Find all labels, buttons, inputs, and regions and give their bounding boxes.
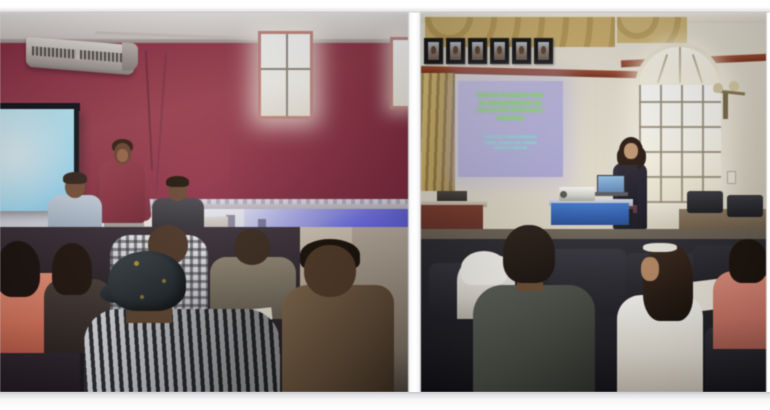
seated-man-dark-hair — [166, 176, 189, 187]
photo-left-classroom — [0, 13, 408, 392]
audience-woman-face — [641, 257, 659, 281]
photo-collage-stage: NUEVAS TECNICAS PARA EL ENCUBRIMIENTO DE… — [0, 0, 770, 410]
audience-tan-head — [234, 229, 270, 265]
collage-gutter — [408, 13, 421, 392]
audience-hood — [461, 251, 507, 285]
audience-grey-jacket — [473, 285, 595, 392]
audience-brown-shirt — [282, 285, 394, 392]
collage-right-border — [766, 13, 770, 392]
window-grid — [639, 85, 721, 203]
slide-subtitle-line: CIRCUITO JUDICIAL — [466, 146, 555, 152]
projector-lens — [560, 191, 567, 198]
wall-sconce-stem — [723, 93, 728, 119]
photo-right-conference: NUEVAS TECNICAS PARA EL ENCUBRIMIENTO DE… — [421, 13, 766, 392]
arch-spoke-center — [679, 47, 681, 83]
cap-highlight-c — [140, 295, 144, 299]
window-far-right — [390, 37, 408, 109]
window-large — [258, 31, 313, 119]
framed-portrait — [424, 38, 443, 64]
slide-title-line: NUEVAS TECNICAS PARA — [463, 93, 558, 101]
gold-valance-right — [617, 17, 687, 43]
audience-grey-hair — [503, 225, 555, 283]
cap-highlight-b — [162, 279, 166, 283]
framed-portrait — [446, 38, 465, 64]
audience-dark-hair — [52, 243, 92, 295]
ac-vent-grille — [32, 46, 128, 63]
audience-salmon-hair — [0, 241, 40, 297]
ac-divider — [76, 49, 80, 60]
audience-salmon-hair-right — [729, 239, 766, 283]
projected-slide: NUEVAS TECNICAS PARA EL ENCUBRIMIENTO DE… — [458, 81, 563, 177]
monitor-icon-b — [727, 195, 763, 217]
framed-portrait — [468, 38, 487, 64]
seated-man-blue-hair — [63, 172, 87, 184]
light-switch-icon — [727, 171, 736, 184]
framed-portrait — [490, 38, 509, 64]
audience-brown-head — [304, 245, 356, 297]
wall-sconce-bulb-left — [713, 83, 723, 93]
laptop-base — [595, 192, 628, 196]
framed-portrait — [534, 38, 553, 64]
slide-subtitle: POR LCDA. TOMAS SERRANO FISCAL CUARTO DE… — [466, 135, 555, 152]
arch-spoke-right — [692, 55, 703, 84]
audience-woman-hair — [643, 243, 693, 321]
projector-table-skirt — [551, 203, 629, 225]
presenter-right-face — [624, 143, 638, 159]
cap-highlight-a — [134, 261, 139, 266]
collage-bottom-border — [0, 392, 770, 410]
monitor-icon-a — [687, 191, 723, 213]
baseball-cap-icon — [108, 251, 186, 311]
framed-portrait-row — [424, 38, 554, 68]
window-transom — [261, 68, 310, 70]
presenter-torso — [99, 161, 145, 223]
foreground-striped-shading — [84, 309, 280, 392]
wall-shadow — [230, 43, 408, 203]
slide-title-line: ROBADOS — [463, 116, 558, 124]
wall-sconce-bulb-right — [729, 81, 739, 91]
collage-top-border — [0, 0, 770, 13]
presenter-face — [117, 149, 128, 162]
slide-title-line: LOS AUTOS HURTADOS O — [463, 108, 558, 116]
gold-curtain-folds — [421, 73, 455, 191]
laptop-screen — [597, 175, 625, 193]
arch-spoke-left — [657, 55, 668, 84]
ac-side-panel — [122, 42, 138, 71]
framed-portrait — [512, 38, 531, 64]
slide-title: NUEVAS TECNICAS PARA EL ENCUBRIMIENTO DE… — [463, 93, 558, 123]
audience-woman-headband — [643, 243, 677, 252]
window-mullion — [286, 34, 288, 116]
